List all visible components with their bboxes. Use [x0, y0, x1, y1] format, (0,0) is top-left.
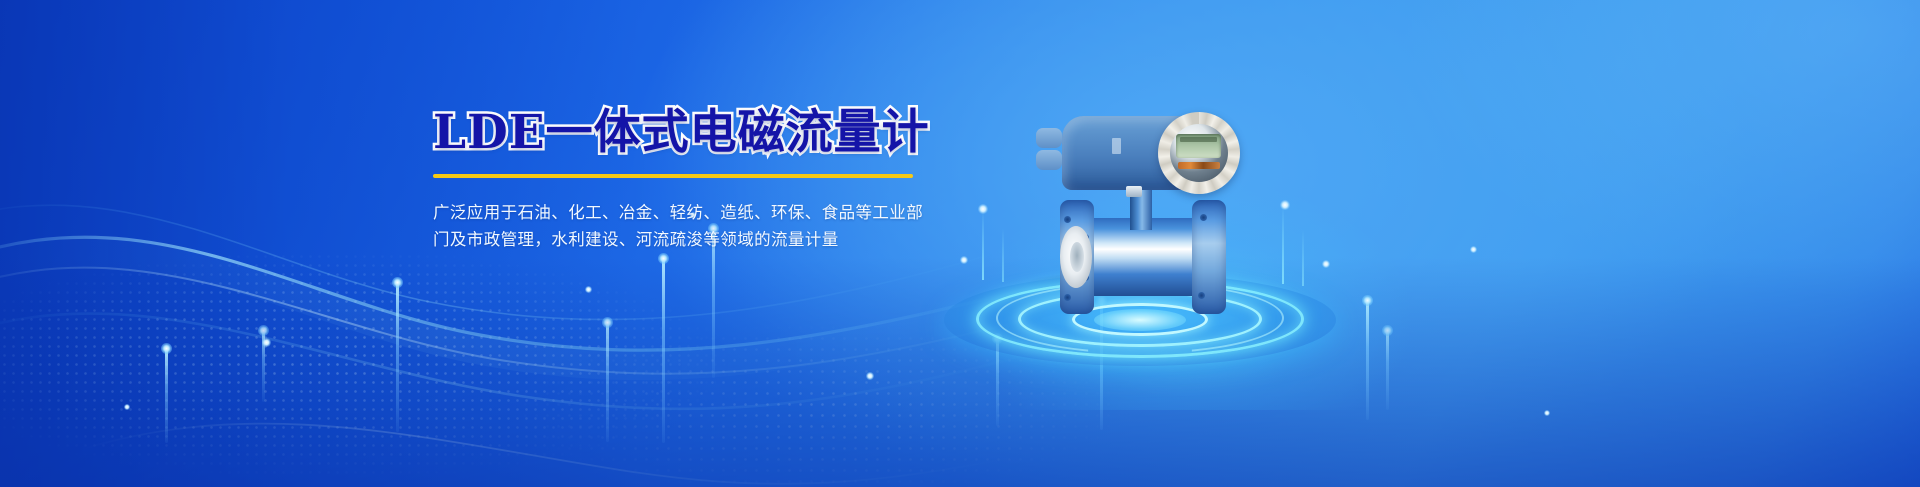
product-illustration — [930, 60, 1450, 390]
light-beam — [165, 348, 168, 443]
flange-bolt-hole — [1064, 294, 1071, 301]
light-beam — [606, 322, 609, 442]
sparkle-dot — [585, 286, 592, 293]
light-beam — [396, 282, 399, 432]
converter-button-row — [1178, 162, 1220, 169]
sparkle-dot — [262, 338, 271, 347]
description-line-2: 门及市政管理，水利建设、河流疏浚等领域的流量计量 — [433, 227, 953, 254]
background-top-right-glow — [1400, 0, 1920, 300]
lcd-readout-bar — [1180, 137, 1217, 142]
sparkle-dot — [1470, 246, 1477, 253]
converter-cable-gland-bottom — [1036, 150, 1062, 170]
title-underline-divider — [433, 174, 913, 178]
sparkle-dot — [866, 372, 874, 380]
converter-terminal-box — [1126, 186, 1142, 197]
product-hero-banner: LDE一体式电磁流量计 广泛应用于石油、化工、冶金、轻纺、造纸、环保、食品等工业… — [0, 0, 1920, 487]
electromagnetic-flow-meter-device — [1000, 90, 1300, 340]
banner-description: 广泛应用于石油、化工、冶金、轻纺、造纸、环保、食品等工业部 门及市政管理，水利建… — [433, 200, 953, 253]
light-beam — [662, 258, 665, 443]
flange-bolt-hole — [1198, 292, 1205, 299]
sparkle-dot — [978, 204, 988, 214]
description-line-1: 广泛应用于石油、化工、冶金、轻纺、造纸、环保、食品等工业部 — [433, 200, 953, 227]
converter-cable-gland-top — [1036, 128, 1062, 148]
sparkle-dot — [124, 404, 130, 410]
flange-bolt-hole — [1200, 214, 1207, 221]
sparkle-dot — [1544, 410, 1550, 416]
meter-flange-right — [1192, 200, 1226, 314]
flange-bolt-hole — [1064, 216, 1071, 223]
meter-pipe-bore — [1070, 242, 1084, 272]
converter-nameplate — [1112, 138, 1121, 154]
page-title: LDE一体式电磁流量计 — [433, 108, 953, 158]
banner-copy-block: LDE一体式电磁流量计 广泛应用于石油、化工、冶金、轻纺、造纸、环保、食品等工业… — [433, 108, 953, 253]
